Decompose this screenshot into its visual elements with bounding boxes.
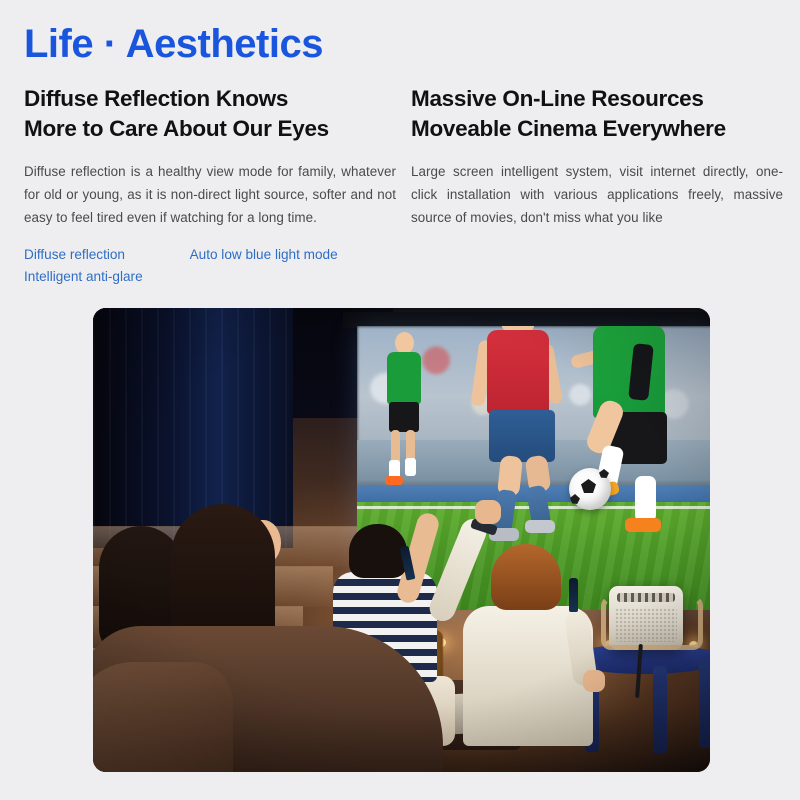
player-boot bbox=[525, 520, 555, 533]
feature-column-left: Diffuse Reflection Knows More to Care Ab… bbox=[24, 84, 396, 229]
player-boot bbox=[625, 518, 661, 532]
feature-heading-left-line1: Diffuse Reflection Knows bbox=[24, 84, 396, 114]
player-shorts bbox=[489, 410, 555, 462]
viewer-man-celebrating bbox=[449, 544, 619, 744]
side-table-leg bbox=[699, 660, 710, 748]
feature-heading-right: Massive On-Line Resources Moveable Cinem… bbox=[411, 84, 783, 144]
feature-heading-right-line1: Massive On-Line Resources bbox=[411, 84, 783, 114]
person-hair bbox=[491, 544, 561, 610]
soccer-ball bbox=[569, 468, 611, 510]
feature-heading-right-line2: Moveable Cinema Everywhere bbox=[411, 114, 783, 144]
feature-body-right: Large screen intelligent system, visit i… bbox=[411, 160, 783, 229]
player-jersey bbox=[387, 352, 421, 404]
player-shorts bbox=[389, 402, 419, 432]
player-sock bbox=[635, 476, 656, 522]
feature-tag-diffuse-reflection: Diffuse reflection bbox=[24, 244, 125, 266]
page-title: Life · Aesthetics bbox=[24, 22, 323, 66]
feature-heading-left-line2: More to Care About Our Eyes bbox=[24, 114, 396, 144]
soccer-player-green-foreground bbox=[585, 326, 681, 550]
drink-bottle bbox=[569, 578, 578, 612]
feature-tag-intelligent-anti-glare: Intelligent anti-glare bbox=[24, 266, 143, 288]
person-hair bbox=[349, 524, 407, 578]
marketing-page: Life · Aesthetics Diffuse Reflection Kno… bbox=[0, 0, 800, 800]
soccer-player-green-background bbox=[383, 352, 425, 482]
player-head bbox=[395, 332, 414, 354]
feature-column-right: Massive On-Line Resources Moveable Cinem… bbox=[411, 84, 783, 229]
feature-tag-row-2: Intelligent anti-glare bbox=[24, 266, 404, 288]
person-fist bbox=[475, 500, 501, 524]
lifestyle-photo bbox=[93, 308, 710, 772]
feature-heading-left: Diffuse Reflection Knows More to Care Ab… bbox=[24, 84, 396, 144]
photo-scene bbox=[93, 308, 710, 772]
feature-tag-list: Diffuse reflection Auto low blue light m… bbox=[24, 244, 404, 288]
sofa-armrest bbox=[93, 662, 233, 772]
feature-tag-auto-low-blue-light-mode: Auto low blue light mode bbox=[190, 244, 338, 266]
feature-tag-row-1: Diffuse reflection Auto low blue light m… bbox=[24, 244, 404, 266]
person-hand bbox=[583, 670, 605, 692]
feature-body-left: Diffuse reflection is a healthy view mod… bbox=[24, 160, 396, 229]
side-table-leg bbox=[653, 666, 667, 754]
player-jersey bbox=[487, 330, 549, 414]
player-boot bbox=[385, 476, 403, 485]
player-sock bbox=[405, 458, 416, 476]
